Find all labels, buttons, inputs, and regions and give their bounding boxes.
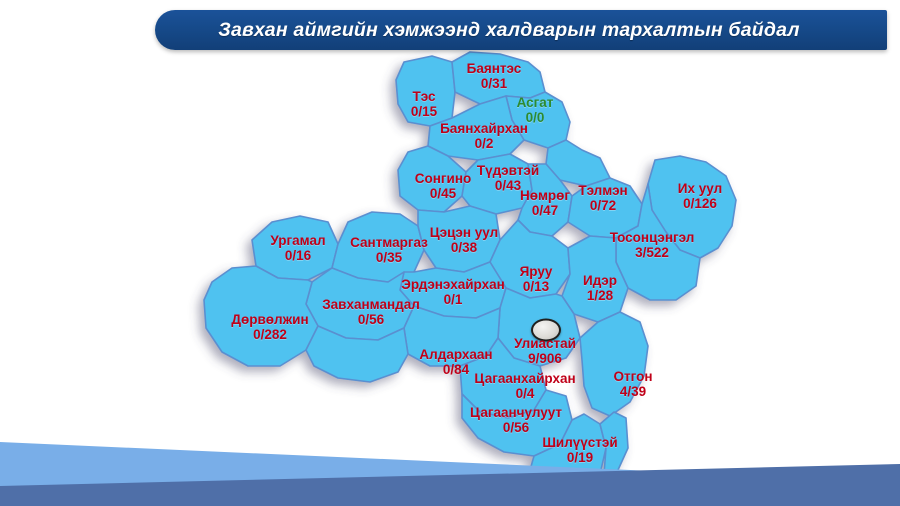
region-name: Завханмандал — [322, 297, 420, 312]
region-value: 1/28 — [583, 288, 617, 303]
region-value: 0/35 — [350, 250, 428, 265]
region-value: 4/39 — [614, 384, 653, 399]
slide-title-bar: Завхан аймгийн хэмжээнд халдварын тархал… — [155, 10, 887, 50]
slide-canvas: Баянтэс0/31Тэс0/15Асгат0/0Баянхайрхан0/2… — [0, 0, 900, 506]
region-otgon[interactable] — [580, 312, 648, 416]
region-label: Ургамал0/16 — [270, 233, 325, 263]
region-name: Баянхайрхан — [440, 121, 528, 136]
region-name: Цагаанчулуут — [470, 405, 562, 420]
region-name: Тэс — [411, 89, 437, 104]
region-name: Нөмрөг — [520, 188, 570, 203]
region-name: Идэр — [583, 273, 617, 288]
region-value: 0/56 — [322, 312, 420, 327]
region-label: Улиастай9/906 — [514, 336, 576, 366]
region-value: 0/31 — [467, 76, 522, 91]
region-label: Шилүүстэй0/19 — [542, 435, 617, 465]
region-value: 0/282 — [231, 327, 308, 342]
region-value: 0/56 — [470, 420, 562, 435]
region-name: Дөрвөлжин — [231, 312, 308, 327]
region-label: Идэр1/28 — [583, 273, 617, 303]
region-name: Яруу — [520, 264, 553, 279]
region-value: 0/2 — [440, 136, 528, 151]
region-label: Их уул0/126 — [678, 181, 722, 211]
region-label: Цэцэн уул0/38 — [430, 225, 498, 255]
region-name: Отгон — [614, 369, 653, 384]
region-label: Отгон4/39 — [614, 369, 653, 399]
region-value: 0/4 — [474, 386, 575, 401]
region-label: Дөрвөлжин0/282 — [231, 312, 308, 342]
region-value: 0/19 — [542, 450, 617, 465]
region-name: Сонгино — [415, 171, 471, 186]
region-value: 0/126 — [678, 196, 722, 211]
region-label: Цагаанчулуут0/56 — [470, 405, 562, 435]
region-name: Тосонцэнгэл — [610, 230, 695, 245]
page-title: Завхан аймгийн хэмжээнд халдварын тархал… — [218, 19, 823, 42]
region-value: 0/72 — [578, 198, 627, 213]
region-name: Ургамал — [270, 233, 325, 248]
region-label: Нөмрөг0/47 — [520, 188, 570, 218]
region-name: Тэлмэн — [578, 183, 627, 198]
region-name: Алдархаан — [419, 347, 492, 362]
region-name: Улиастай — [514, 336, 576, 351]
region-name: Эрдэнэхайрхан — [401, 277, 505, 292]
region-value: 0/13 — [520, 279, 553, 294]
region-label: Баянтэс0/31 — [467, 61, 522, 91]
region-label: Сонгино0/45 — [415, 171, 471, 201]
region-name: Цэцэн уул — [430, 225, 498, 240]
region-value: 0/38 — [430, 240, 498, 255]
region-name: Их уул — [678, 181, 722, 196]
region-label: Тэс0/15 — [411, 89, 437, 119]
region-value: 9/906 — [514, 351, 576, 366]
region-name: Шилүүстэй — [542, 435, 617, 450]
region-value: 0/45 — [415, 186, 471, 201]
region-name: Баянтэс — [467, 61, 522, 76]
region-value: 3/522 — [610, 245, 695, 260]
region-name: Асгат — [517, 95, 554, 110]
region-label: Яруу0/13 — [520, 264, 553, 294]
region-name: Сантмаргаз — [350, 235, 428, 250]
region-value: 0/16 — [270, 248, 325, 263]
region-label: Тэлмэн0/72 — [578, 183, 627, 213]
region-value: 0/47 — [520, 203, 570, 218]
region-label: Цагаанхайрхан0/4 — [474, 371, 575, 401]
region-label: Баянхайрхан0/2 — [440, 121, 528, 151]
region-label: Тосонцэнгэл3/522 — [610, 230, 695, 260]
region-label: Сантмаргаз0/35 — [350, 235, 428, 265]
region-name: Цагаанхайрхан — [474, 371, 575, 386]
region-name: Түдэвтэй — [477, 163, 539, 178]
region-label: Завханмандал0/56 — [322, 297, 420, 327]
region-value: 0/15 — [411, 104, 437, 119]
